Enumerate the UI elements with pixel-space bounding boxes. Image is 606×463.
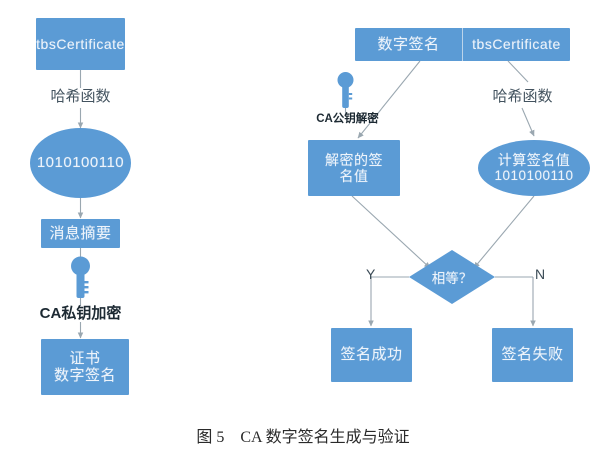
label-ca-public-key-decrypt-text: CA公钥解密 bbox=[316, 113, 379, 125]
node-computed-line1: 计算签名值 bbox=[498, 152, 571, 168]
node-message-digest-label: 消息摘要 bbox=[49, 225, 111, 242]
node-compare-decision: 相等？ bbox=[409, 250, 495, 304]
node-certificate-line1: 证书 bbox=[69, 350, 100, 367]
node-tbs-certificate: tbsCertificate bbox=[36, 18, 125, 70]
private-key-icon bbox=[71, 257, 90, 299]
label-hash-function-right-text: 哈希函数 bbox=[492, 88, 552, 105]
label-ca-public-key-decrypt: CA公钥解密 bbox=[303, 113, 392, 126]
connector-hashlabel-to-computed bbox=[522, 108, 534, 136]
node-computed-signature-value: 计算签名值 1010100110 bbox=[478, 140, 590, 196]
connector-signature-to-decrypted bbox=[358, 61, 420, 138]
branch-label-no-text: N bbox=[535, 266, 545, 282]
node-header-tbs-label: tbsCertificate bbox=[472, 36, 561, 52]
node-decrypted-line1: 解密的签 bbox=[325, 152, 383, 168]
node-tbs-certificate-label: tbsCertificate bbox=[36, 36, 125, 52]
figure-caption-text: 图 5 CA 数字签名生成与验证 bbox=[196, 429, 409, 446]
label-ca-private-key-encrypt-text: CA私钥加密 bbox=[40, 305, 122, 322]
node-decrypted-signature-value: 解密的签 名值 bbox=[308, 140, 400, 196]
figure-caption: 图 5 CA 数字签名生成与验证 bbox=[0, 423, 606, 447]
node-compare-decision-text-wrap: 相等？ bbox=[409, 250, 495, 304]
node-message-digest-bits: 1010100110 bbox=[30, 128, 131, 198]
node-message-digest-bits-label: 1010100110 bbox=[37, 154, 124, 171]
node-signature-failure: 签名失败 bbox=[492, 328, 573, 382]
node-message-digest: 消息摘要 bbox=[41, 219, 120, 248]
label-hash-function-right: 哈希函数 bbox=[472, 89, 573, 106]
node-certificate-digital-signature: 证书 数字签名 bbox=[41, 339, 129, 395]
node-signature-failure-label: 签名失败 bbox=[501, 346, 563, 363]
node-computed-line2: 1010100110 bbox=[494, 168, 573, 184]
node-header-signature-label: 数字签名 bbox=[377, 36, 439, 53]
label-hash-function-left: 哈希函数 bbox=[30, 89, 131, 106]
node-signature-success-label: 签名成功 bbox=[340, 346, 402, 363]
node-signature-success: 签名成功 bbox=[331, 328, 412, 382]
node-header-cell-tbs: tbsCertificate bbox=[463, 28, 570, 61]
node-header-cell-signature: 数字签名 bbox=[355, 28, 462, 61]
public-key-icon bbox=[338, 72, 354, 108]
node-decrypted-line2: 名值 bbox=[340, 168, 369, 184]
branch-label-yes-text: Y bbox=[366, 266, 375, 282]
branch-label-no: N bbox=[535, 266, 545, 282]
connector-tbs-to-hashlabel-right bbox=[508, 61, 528, 82]
label-ca-private-key-encrypt: CA私钥加密 bbox=[22, 306, 139, 323]
branch-label-yes: Y bbox=[366, 266, 375, 282]
node-compare-decision-label: 相等？ bbox=[432, 267, 473, 287]
label-hash-function-left-text: 哈希函数 bbox=[50, 88, 110, 105]
node-signed-certificate-header: 数字签名 tbsCertificate bbox=[355, 28, 570, 61]
node-certificate-line2: 数字签名 bbox=[54, 367, 116, 384]
